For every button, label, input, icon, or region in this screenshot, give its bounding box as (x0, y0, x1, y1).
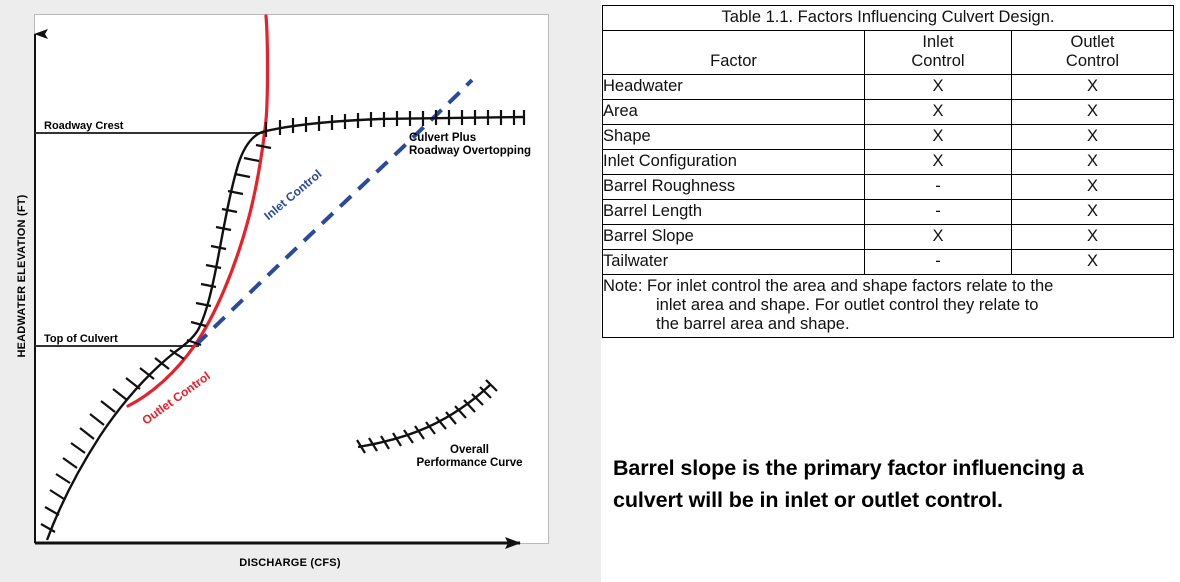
factors-table-container: Table 1.1. Factors Influencing Culvert D… (602, 5, 1173, 338)
factor-name: Headwater (603, 75, 865, 100)
outlet-mark: X (1012, 150, 1174, 175)
culvert-plus-overtopping-curve (41, 110, 524, 540)
overall-line2: Performance Curve (416, 457, 522, 469)
overall-performance-curve (357, 380, 497, 453)
table-note: Note: For inlet control the area and sha… (603, 275, 1174, 338)
inlet-mark: - (865, 250, 1012, 275)
outlet-mark: X (1012, 250, 1174, 275)
factor-name: Barrel Length (603, 200, 865, 225)
outlet-mark: X (1012, 175, 1174, 200)
header-factor: Factor (603, 31, 865, 75)
note-line-3: the barrel area and shape. (603, 315, 1173, 334)
outlet-mark: X (1012, 75, 1174, 100)
x-axis-label: DISCHARGE (CFS) (180, 557, 400, 569)
table-note-row: Note: For inlet control the area and sha… (603, 275, 1174, 338)
table-row: Area X X (603, 100, 1174, 125)
table-row: Headwater X X (603, 75, 1174, 100)
table-row: Inlet Configuration X X (603, 150, 1174, 175)
table-header-row: Factor Inlet Control Outlet Control (603, 31, 1174, 75)
inlet-mark: X (865, 225, 1012, 250)
header-outlet-line2: Control (1066, 52, 1119, 70)
inlet-mark: X (865, 150, 1012, 175)
table-caption: Table 1.1. Factors Influencing Culvert D… (603, 6, 1174, 31)
factor-name: Barrel Slope (603, 225, 865, 250)
inlet-mark: - (865, 200, 1012, 225)
table-row: Tailwater - X (603, 250, 1174, 275)
culvert-plus-line1: Culvert Plus (409, 132, 476, 144)
table-row: Shape X X (603, 125, 1174, 150)
factors-table: Table 1.1. Factors Influencing Culvert D… (602, 5, 1174, 338)
header-outlet-control: Outlet Control (1012, 31, 1174, 75)
inlet-control-curve (196, 80, 472, 345)
inlet-mark: - (865, 175, 1012, 200)
outlet-mark: X (1012, 100, 1174, 125)
outlet-mark: X (1012, 200, 1174, 225)
culvert-plus-overtopping-label: Culvert Plus Roadway Overtopping (409, 132, 531, 158)
table-row: Barrel Length - X (603, 200, 1174, 225)
overall-line1: Overall (450, 444, 489, 456)
inlet-mark: X (865, 125, 1012, 150)
header-inlet-line1: Inlet (922, 33, 953, 51)
inlet-mark: X (865, 100, 1012, 125)
plot-graphics (0, 0, 601, 582)
roadway-crest-label: Roadway Crest (44, 120, 123, 133)
culvert-plus-line2: Roadway Overtopping (409, 145, 531, 157)
outlet-mark: X (1012, 125, 1174, 150)
factor-name: Area (603, 100, 865, 125)
outlet-control-curve (128, 16, 268, 406)
factor-name: Inlet Configuration (603, 150, 865, 175)
table-row: Barrel Roughness - X (603, 175, 1174, 200)
culvert-performance-figure: HEADWATER ELEVATION (FT) DISCHARGE (CFS)… (0, 0, 601, 582)
table-caption-row: Table 1.1. Factors Influencing Culvert D… (603, 6, 1174, 31)
inlet-mark: X (865, 75, 1012, 100)
table-row: Barrel Slope X X (603, 225, 1174, 250)
header-outlet-line1: Outlet (1071, 33, 1115, 51)
header-inlet-control: Inlet Control (865, 31, 1012, 75)
outlet-mark: X (1012, 225, 1174, 250)
top-of-culvert-label: Top of Culvert (44, 333, 118, 346)
header-inlet-line2: Control (911, 52, 964, 70)
factor-name: Tailwater (603, 250, 865, 275)
overall-performance-curve-label: Overall Performance Curve (392, 444, 547, 470)
factor-name: Shape (603, 125, 865, 150)
factor-name: Barrel Roughness (603, 175, 865, 200)
callout-text: Barrel slope is the primary factor influ… (613, 452, 1158, 516)
note-line-2: inlet area and shape. For outlet control… (603, 296, 1173, 315)
note-line-1: Note: For inlet control the area and sha… (603, 277, 1173, 296)
y-axis-label: HEADWATER ELEVATION (FT) (16, 166, 28, 386)
